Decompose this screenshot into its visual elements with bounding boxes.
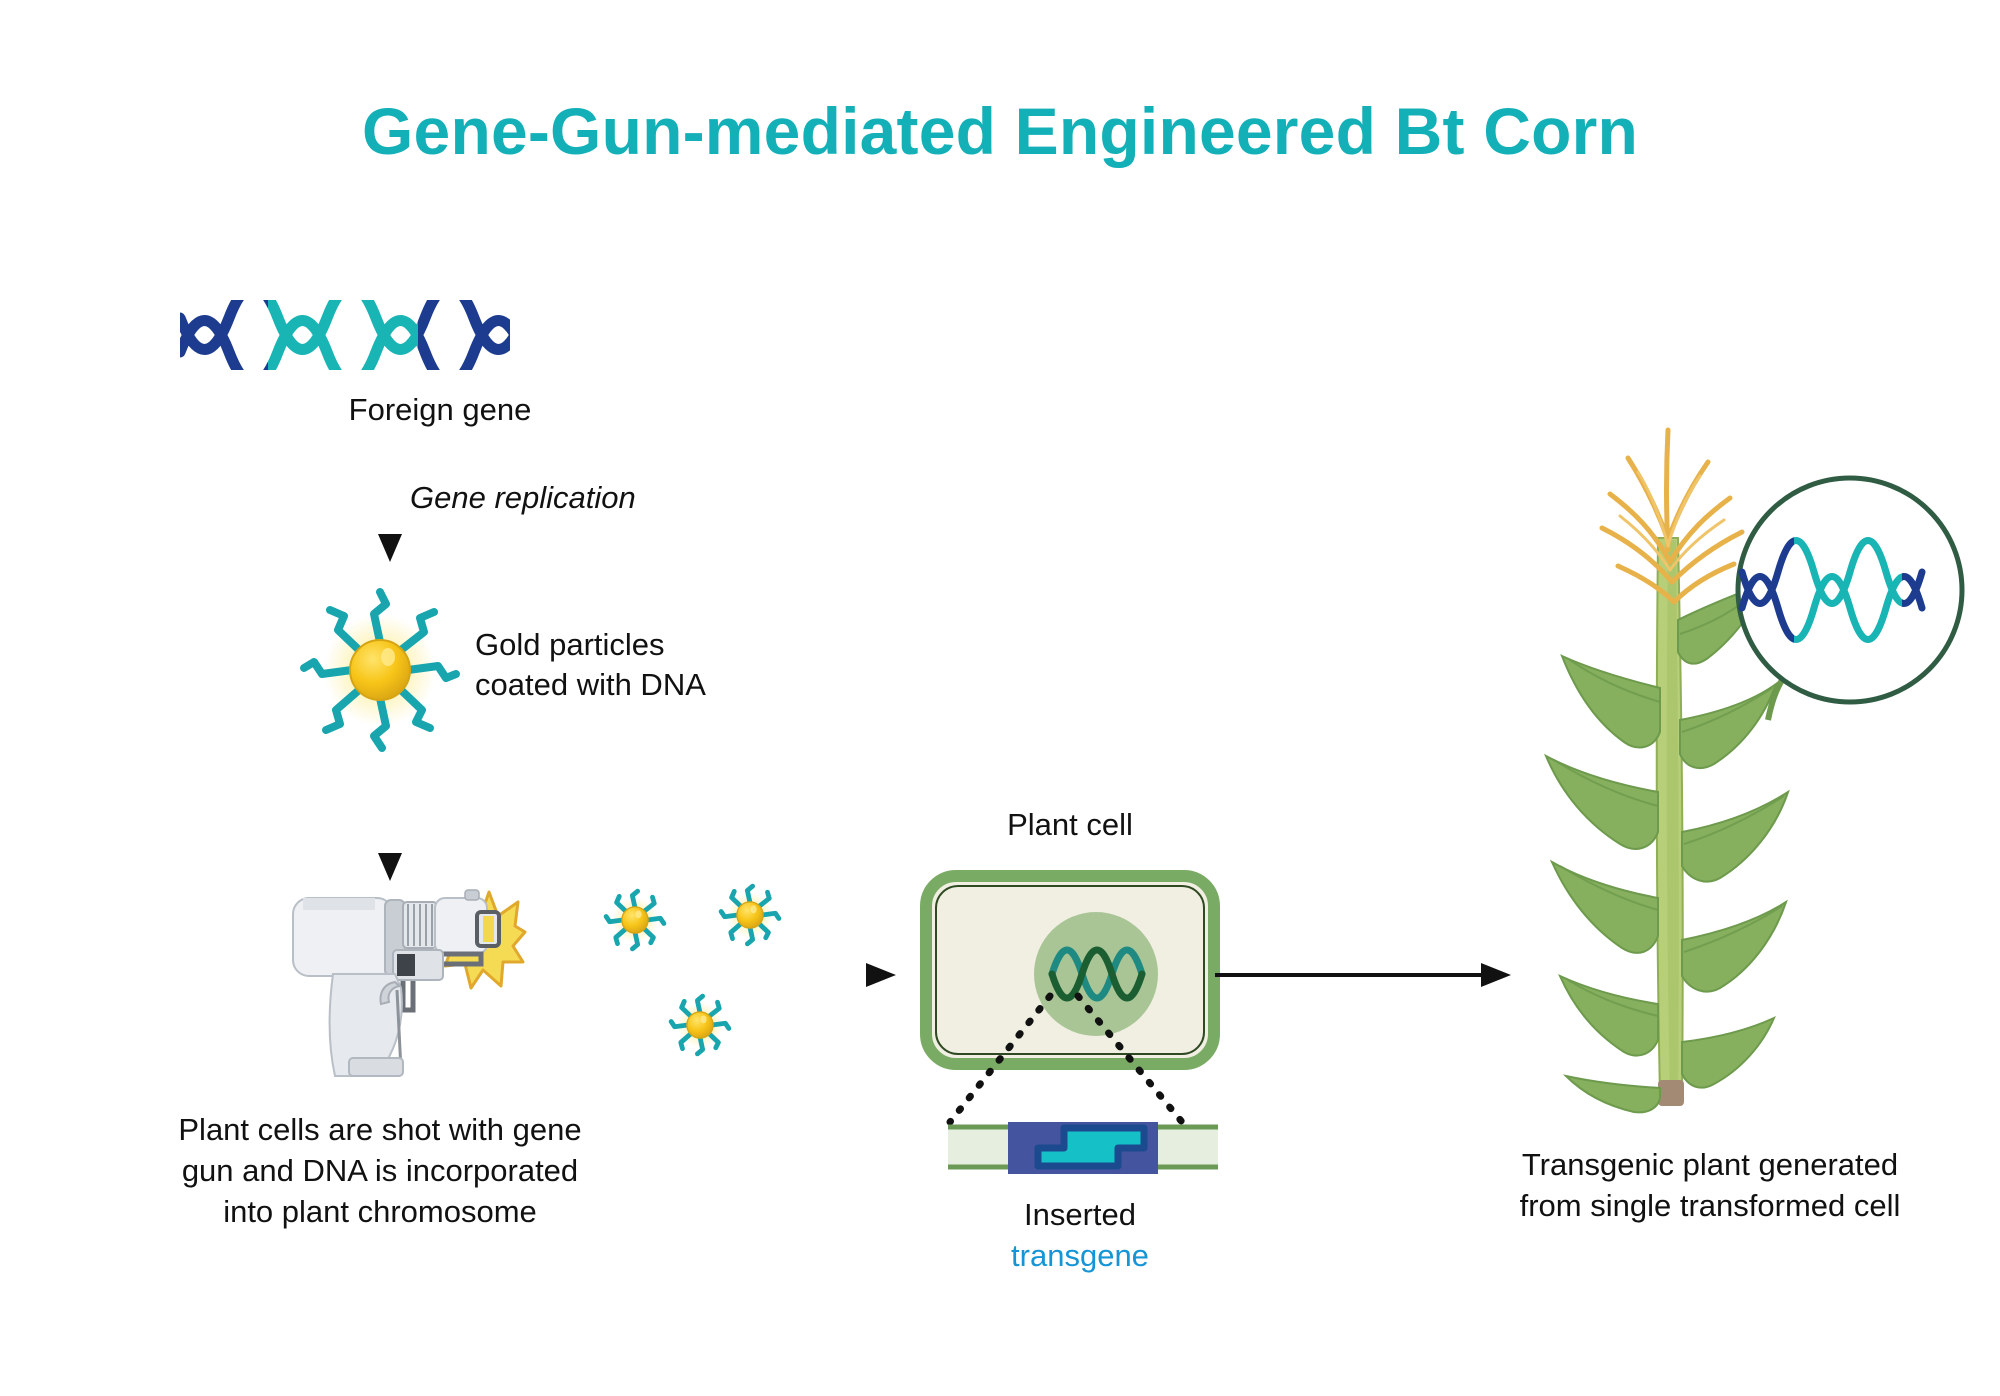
magnifier-circle-icon	[1738, 478, 1962, 702]
gold-particle-icon	[715, 880, 785, 950]
gold-particle-icon	[600, 885, 670, 955]
gene-gun-icon	[275, 870, 525, 1080]
chromosome-bar-icon	[948, 1120, 1218, 1176]
inserted-label: Inserted	[930, 1195, 1230, 1236]
gold-particle-icon	[300, 590, 460, 750]
gold-particles-label: Gold particles coated with DNA	[475, 625, 805, 706]
gene-gun-caption: Plant cells are shot with gene gun and D…	[160, 1110, 600, 1233]
arrow-right-icon	[540, 955, 900, 995]
gold-particles-label-line1: Gold particles	[475, 625, 805, 665]
dna-helix-icon	[180, 300, 510, 370]
zoom-guide-lines	[930, 990, 1230, 1130]
arrow-down-icon	[370, 755, 410, 885]
plant-cell-label: Plant cell	[930, 805, 1210, 845]
foreign-gene-label: Foreign gene	[300, 390, 580, 430]
transgene-label: transgene	[930, 1236, 1230, 1277]
inserted-transgene-caption: Inserted transgene	[930, 1195, 1230, 1277]
transgenic-plant-caption: Transgenic plant generated from single t…	[1490, 1145, 1930, 1227]
gold-particle-icon	[665, 990, 735, 1060]
arrow-right-icon	[1215, 955, 1515, 995]
arrow-down-icon	[370, 428, 410, 568]
corn-plant-icon	[1510, 420, 1930, 1120]
gene-replication-label: Gene replication	[410, 478, 720, 518]
page-title: Gene-Gun-mediated Engineered Bt Corn	[0, 95, 2000, 168]
gold-particles-label-line2: coated with DNA	[475, 665, 805, 705]
